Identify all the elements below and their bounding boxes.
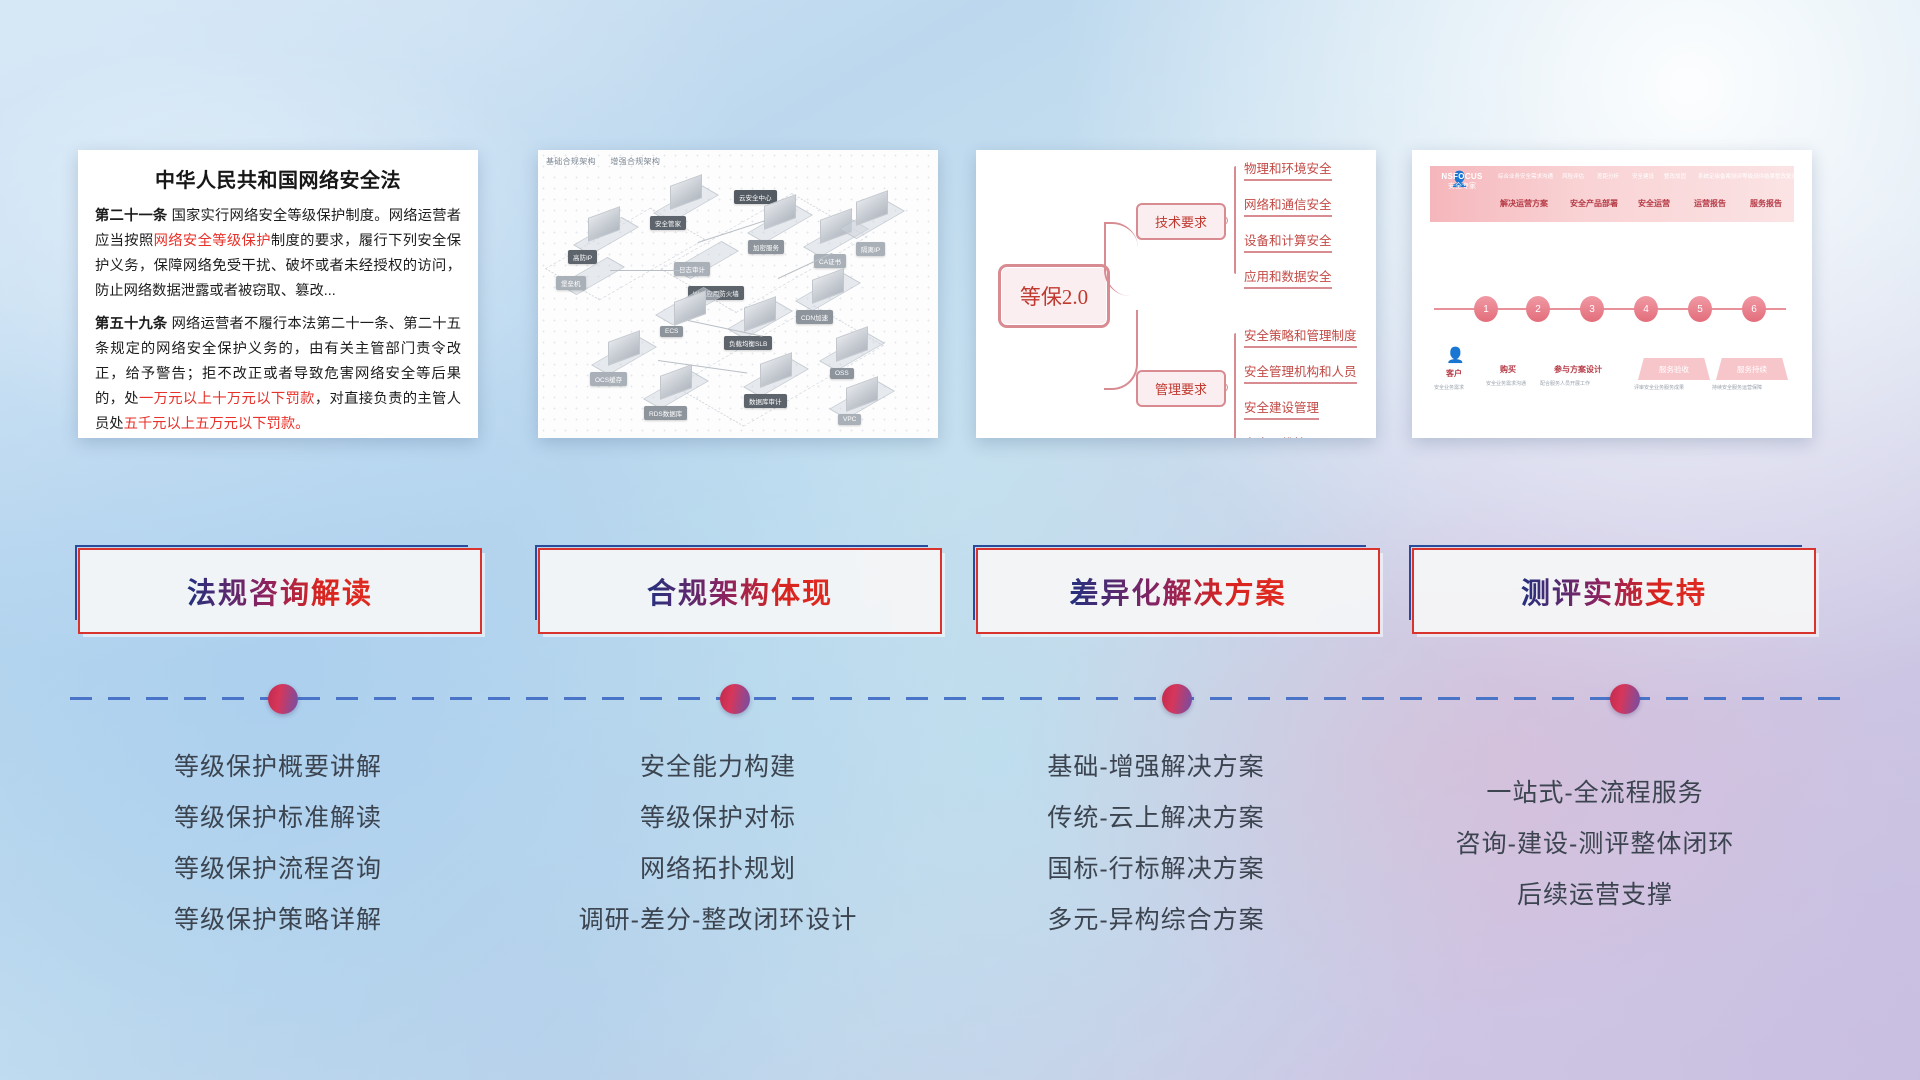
node-slb: 负载均衡SLB xyxy=(724,336,772,350)
headline-label-2: 合规架构体现 xyxy=(647,570,833,612)
nsfocus-step-1[interactable]: 1 xyxy=(1474,296,1498,322)
headline-box-3[interactable]: 差异化解决方案 xyxy=(976,548,1380,634)
law-article-59: 第五十九条 网络运营者不履行本法第二十一条、第二十五条规定的网络安全保护义务的，… xyxy=(95,312,461,437)
architecture-header: 基础合规架构 增强合规架构 xyxy=(546,156,672,167)
node-baoleiji: 堡垒机 xyxy=(556,276,586,290)
law-article-21-highlight: 网络安全等级保护 xyxy=(154,233,271,249)
node-ocs: OCS缓存 xyxy=(590,372,627,386)
nsfocus-bottom-note-2: 配合服务人员开展工作 xyxy=(1540,380,1590,387)
nsfocus-bottom-note-3: 评审安全业务服务成果 xyxy=(1634,384,1684,391)
list-item: 等级保护标准解读 xyxy=(63,793,493,844)
list-item: 等级保护对标 xyxy=(503,793,933,844)
card-law-text[interactable]: 中华人民共和国网络安全法 第二十一条 国家实行网络安全等级保护制度。网络运营者应… xyxy=(78,150,478,438)
headline-label-3: 差异化解决方案 xyxy=(1069,570,1286,612)
nsfocus-sub-label-4: 运营报告 xyxy=(1694,198,1726,209)
headline-label-4: 测评实施支持 xyxy=(1521,570,1707,612)
mindmap-leaf-mgmt-1: 安全策略和管理制度 xyxy=(1244,325,1357,348)
card-mindmap[interactable]: 等保2.0 技术要求 管理要求 物理和环境安全 网络和通信安全 设备和计算安全 … xyxy=(976,150,1376,438)
mindmap-leaf-tech-2: 网络和通信安全 xyxy=(1244,194,1332,217)
mindmap-leaf-mgmt-4: 安全运维管理 xyxy=(1244,433,1319,438)
nsfocus-top-label-2: 风险评估 xyxy=(1562,172,1584,180)
card-service-timeline[interactable]: 👤 NSFOCUS 安全专家 综合业务安全需求沟通 风险评估 差距分析 安全建设… xyxy=(1412,150,1812,438)
nsfocus-top-label-6: 系统定级备案测评 xyxy=(1698,172,1742,180)
node-vpc: VPC xyxy=(838,414,861,425)
node-cdn: CDN加速 xyxy=(796,310,833,324)
list-item: 基础-增强解决方案 xyxy=(941,742,1371,793)
nsfocus-logo: NSFOCUS 安全专家 xyxy=(1436,172,1488,191)
mindmap-connector-tech xyxy=(1234,166,1236,274)
mindmap-curve-top xyxy=(1104,222,1138,296)
node-jiami-fuwu: 加密服务 xyxy=(748,240,784,254)
mindmap-branch-management: 管理要求 xyxy=(1136,370,1226,407)
nsfocus-sub-label-3: 安全运营 xyxy=(1638,198,1670,209)
node-rds: RDS数据库 xyxy=(644,406,687,420)
nsfocus-canvas: 👤 NSFOCUS 安全专家 综合业务安全需求沟通 风险评估 差距分析 安全建设… xyxy=(1412,150,1812,438)
list-item: 网络拓扑规划 xyxy=(503,844,933,895)
law-article-21-label: 第二十一条 xyxy=(95,208,167,224)
bottom-lists-row: 等级保护概要讲解 等级保护标准解读 等级保护流程咨询 等级保护策略详解 安全能力… xyxy=(0,742,1920,1002)
nsfocus-bottom-note-4: 持续安全服务运营保障 xyxy=(1712,384,1762,391)
timeline-dot-3[interactable] xyxy=(1162,684,1192,714)
headline-box-4[interactable]: 测评实施支持 xyxy=(1412,548,1816,634)
node-yun-anquan-zhongxin: 云安全中心 xyxy=(734,190,777,204)
architecture-header-right: 增强合规架构 xyxy=(610,157,660,166)
headline-box-2[interactable]: 合规架构体现 xyxy=(538,548,942,634)
node-geli-ip: 隔离IP xyxy=(856,242,885,256)
nsfocus-top-label-4: 安全建设 xyxy=(1632,172,1654,180)
law-article-21: 第二十一条 国家实行网络安全等级保护制度。网络运营者应当按照网络安全等级保护制度… xyxy=(95,204,461,304)
architecture-header-left: 基础合规架构 xyxy=(546,157,596,166)
nsfocus-logo-line2: 安全专家 xyxy=(1436,181,1488,191)
mindmap-curve-bottom xyxy=(1104,310,1138,390)
architecture-canvas: 基础合规架构 增强合规架构 高防IP 堡垒机 安全管家 日志审计 云安全中心 加… xyxy=(538,150,938,438)
mindmap-leaf-mgmt-3: 安全建设管理 xyxy=(1244,397,1319,420)
top-cards-row: 中华人民共和国网络安全法 第二十一条 国家实行网络安全等级保护制度。网络运营者应… xyxy=(0,150,1920,440)
node-anquan-guanjia: 安全管家 xyxy=(650,216,686,230)
law-title: 中华人民共和国网络安全法 xyxy=(95,164,461,193)
list-column-2: 安全能力构建 等级保护对标 网络拓扑规划 调研-差分-整改闭环设计 xyxy=(503,742,933,946)
nsfocus-bottom-label-2: 参与方案设计 xyxy=(1554,364,1602,375)
law-article-59-highlight-2: 五千元以上五万元以下罚款。 xyxy=(124,416,310,432)
node-gaofang-ip: 高防IP xyxy=(568,250,597,264)
nsfocus-top-label-5: 整改加固 xyxy=(1664,172,1686,180)
nsfocus-step-3[interactable]: 3 xyxy=(1580,296,1604,322)
node-ecs: ECS xyxy=(660,326,683,337)
timeline-dashed-line xyxy=(70,697,1850,700)
link-1 xyxy=(610,270,690,271)
nsfocus-step-4[interactable]: 4 xyxy=(1634,296,1658,322)
nsfocus-bottom-note-1: 安全业务需求沟通 xyxy=(1486,380,1526,387)
mindmap-root: 等保2.0 xyxy=(998,264,1110,328)
headline-label-1: 法规咨询解读 xyxy=(187,570,373,612)
node-rizhi-shenji: 日志审计 xyxy=(674,262,710,276)
list-item: 等级保护流程咨询 xyxy=(63,844,493,895)
list-item: 调研-差分-整改闭环设计 xyxy=(503,895,933,946)
mindmap-canvas: 等保2.0 技术要求 管理要求 物理和环境安全 网络和通信安全 设备和计算安全 … xyxy=(976,150,1376,438)
list-item: 咨询-建设-测评整体闭环 xyxy=(1380,819,1810,870)
list-item: 等级保护概要讲解 xyxy=(63,742,493,793)
headline-row: 法规咨询解读 合规架构体现 差异化解决方案 测评实施支持 xyxy=(0,548,1920,630)
mindmap-leaf-mgmt-2: 安全管理机构和人员 xyxy=(1244,361,1357,384)
mindmap-connector-mgmt xyxy=(1234,333,1236,438)
law-content: 中华人民共和国网络安全法 第二十一条 国家实行网络安全等级保护制度。网络运营者应… xyxy=(78,150,478,438)
nsfocus-customer-note: 安全业务需求 xyxy=(1434,384,1464,391)
nsfocus-sub-label-5: 服务报告 xyxy=(1750,198,1782,209)
nsfocus-top-label-3: 差距分析 xyxy=(1597,172,1619,180)
timeline xyxy=(70,697,1850,701)
timeline-dot-4[interactable] xyxy=(1610,684,1640,714)
nsfocus-step-6[interactable]: 6 xyxy=(1742,296,1766,322)
timeline-dot-2[interactable] xyxy=(720,684,750,714)
headline-box-1[interactable]: 法规咨询解读 xyxy=(78,548,482,634)
law-article-59-label: 第五十九条 xyxy=(95,316,167,332)
card-architecture-diagram[interactable]: 基础合规架构 增强合规架构 高防IP 堡垒机 安全管家 日志审计 云安全中心 加… xyxy=(538,150,938,438)
list-item: 后续运营支撑 xyxy=(1380,870,1810,921)
list-item: 安全能力构建 xyxy=(503,742,933,793)
nsfocus-bottom-label-4: 服务持续 xyxy=(1716,358,1788,380)
node-oss: OSS xyxy=(830,368,854,379)
law-article-59-highlight-1: 一万元以上十万元以下罚款 xyxy=(139,391,315,407)
list-column-1: 等级保护概要讲解 等级保护标准解读 等级保护流程咨询 等级保护策略详解 xyxy=(63,742,493,946)
nsfocus-top-label-1: 综合业务安全需求沟通 xyxy=(1498,172,1553,180)
nsfocus-bottom-label-1: 购买 xyxy=(1500,364,1516,375)
mindmap-leaf-tech-4: 应用和数据安全 xyxy=(1244,266,1332,289)
customer-person-icon: 👤 xyxy=(1446,346,1465,364)
list-item: 等级保护策略详解 xyxy=(63,895,493,946)
list-item: 多元-异构综合方案 xyxy=(941,895,1371,946)
list-column-4: 一站式-全流程服务 咨询-建设-测评整体闭环 后续运营支撑 xyxy=(1380,768,1810,921)
node-shuju-shenji: 数据库审计 xyxy=(744,394,787,408)
list-item: 国标-行标解决方案 xyxy=(941,844,1371,895)
nsfocus-customer-label: 客户 xyxy=(1446,368,1462,379)
list-column-3: 基础-增强解决方案 传统-云上解决方案 国标-行标解决方案 多元-异构综合方案 xyxy=(941,742,1371,946)
nsfocus-sub-label-1: 解决运营方案 xyxy=(1500,198,1548,209)
mindmap-leaf-tech-3: 设备和计算安全 xyxy=(1244,230,1332,253)
nsfocus-sub-label-2: 安全产品部署 xyxy=(1570,198,1618,209)
timeline-dot-1[interactable] xyxy=(268,684,298,714)
nsfocus-step-5[interactable]: 5 xyxy=(1688,296,1712,322)
list-item: 一站式-全流程服务 xyxy=(1380,768,1810,819)
node-ca-certificate: CA证书 xyxy=(814,254,846,268)
mindmap-branch-technical: 技术要求 xyxy=(1136,203,1226,240)
nsfocus-step-2[interactable]: 2 xyxy=(1526,296,1550,322)
list-item: 传统-云上解决方案 xyxy=(941,793,1371,844)
nsfocus-top-label-7: 等级测评结果整改复测上报 xyxy=(1742,172,1808,180)
mindmap-leaf-tech-1: 物理和环境安全 xyxy=(1244,158,1332,181)
nsfocus-logo-line1: NSFOCUS xyxy=(1436,172,1488,181)
nsfocus-bottom-label-3: 服务验收 xyxy=(1638,358,1710,380)
